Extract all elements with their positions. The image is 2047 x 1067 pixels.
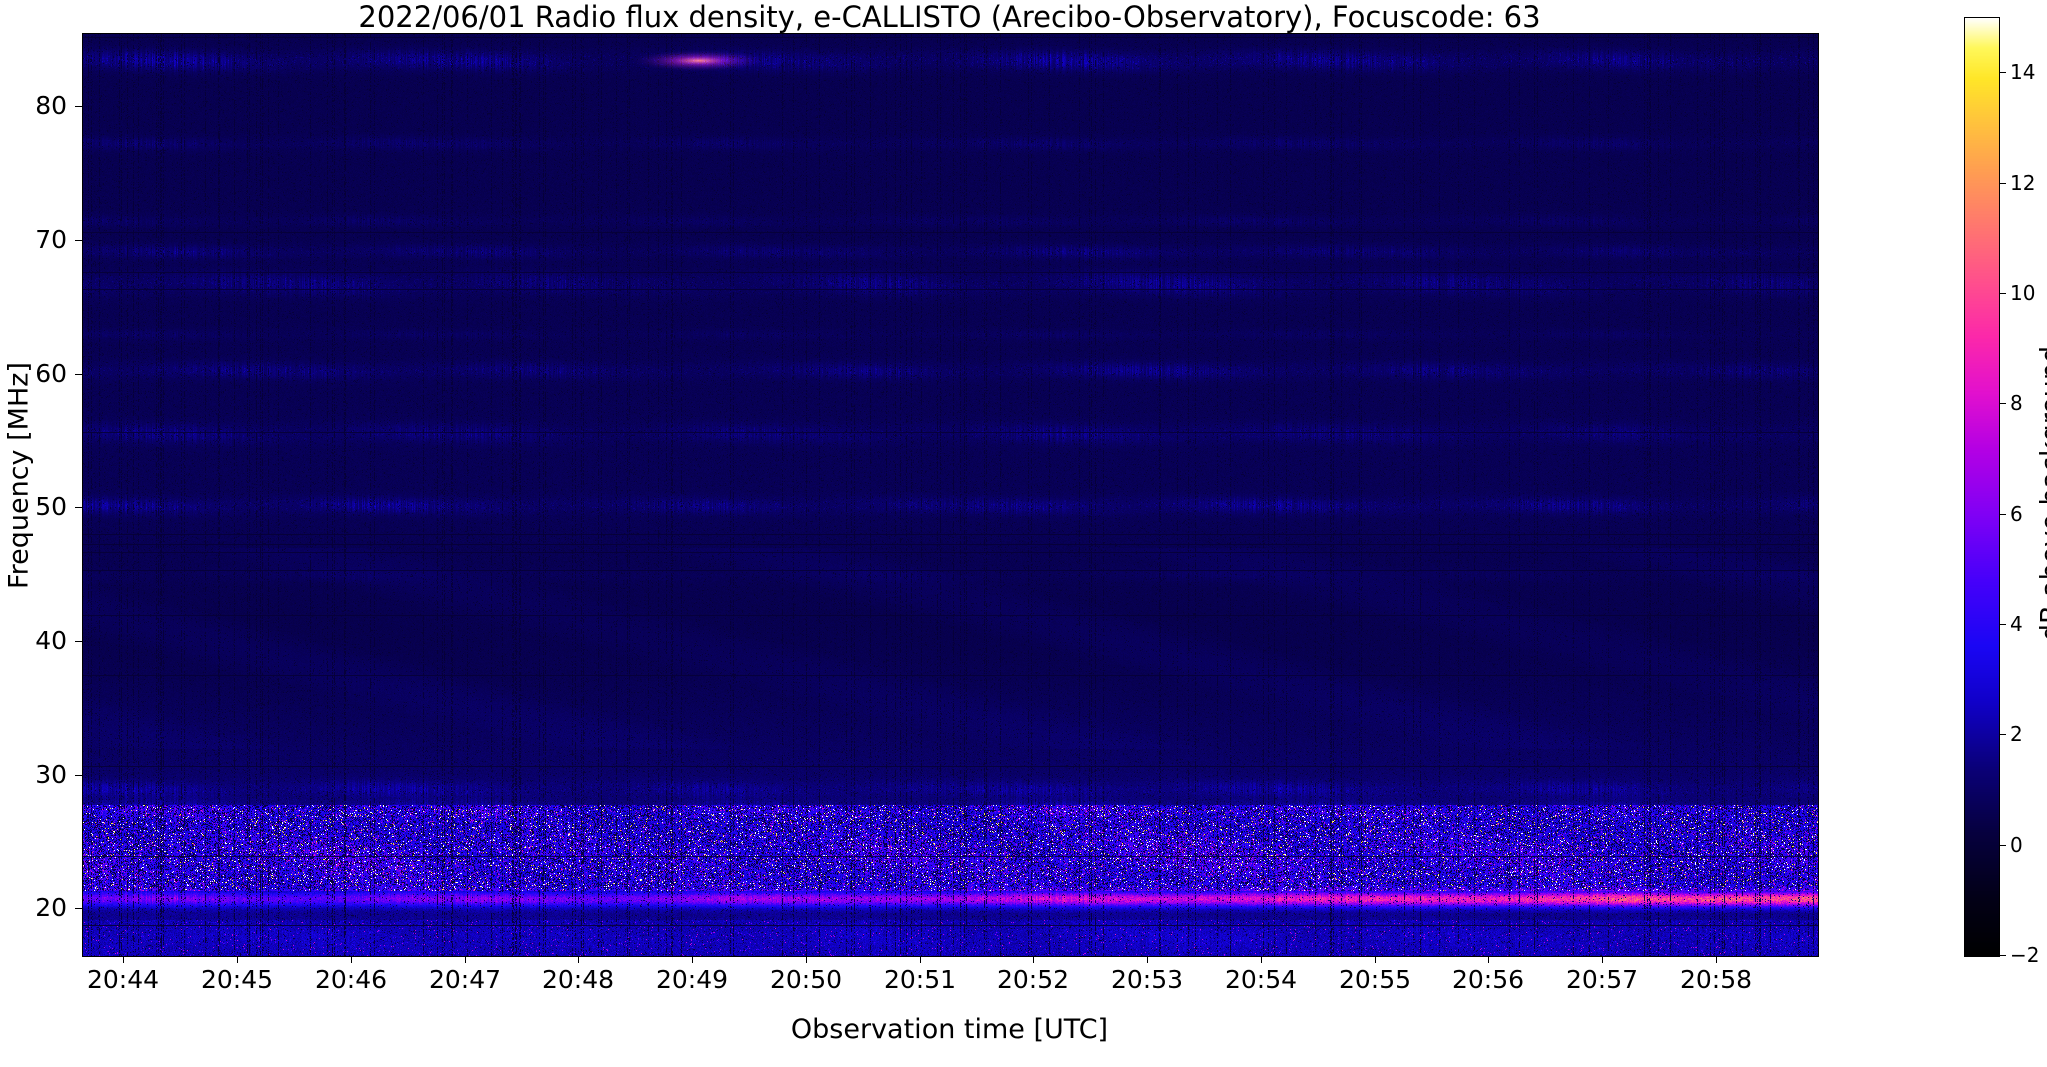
colorbar-tick-label: 14	[2010, 62, 2047, 82]
x-tick-mark	[1488, 956, 1489, 963]
colorbar-tick-label: 0	[2010, 835, 2047, 855]
colorbar-tick-mark	[1999, 624, 2006, 625]
y-tick-mark	[75, 507, 82, 508]
colorbar-tick-mark	[1999, 845, 2006, 846]
x-tick-label: 20:55	[1310, 967, 1440, 993]
x-tick-label: 20:50	[741, 967, 871, 993]
x-tick-mark	[920, 956, 921, 963]
x-tick-label: 20:48	[513, 967, 643, 993]
colorbar-tick-mark	[1999, 293, 2006, 294]
colorbar-tick-label: 12	[2010, 173, 2047, 193]
x-tick-label: 20:51	[855, 967, 985, 993]
x-tick-mark	[1033, 956, 1034, 963]
x-tick-label: 20:47	[400, 967, 530, 993]
x-tick-label: 20:45	[172, 967, 302, 993]
spectrogram-axes[interactable]	[82, 33, 1819, 957]
page-title: 2022/06/01 Radio flux density, e-CALLIST…	[82, 2, 1817, 32]
y-tick-mark	[75, 775, 82, 776]
x-tick-mark	[1375, 956, 1376, 963]
spectrogram-figure: 2022/06/01 Radio flux density, e-CALLIST…	[0, 0, 2047, 1067]
x-axis-label: Observation time [UTC]	[82, 1014, 1817, 1045]
colorbar-tick-mark	[1999, 734, 2006, 735]
x-tick-mark	[1147, 956, 1148, 963]
spectrogram-heatmap[interactable]	[83, 34, 1818, 956]
colorbar-label: dB above background	[2036, 194, 2047, 794]
colorbar-gradient	[1965, 18, 1999, 956]
colorbar[interactable]	[1964, 17, 2000, 957]
x-tick-mark	[806, 956, 807, 963]
x-tick-label: 20:56	[1423, 967, 1553, 993]
x-tick-label: 20:58	[1651, 967, 1781, 993]
colorbar-tick-mark	[1999, 955, 2006, 956]
y-tick-mark	[75, 106, 82, 107]
x-tick-label: 20:49	[627, 967, 757, 993]
x-tick-mark	[237, 956, 238, 963]
y-tick-mark	[75, 641, 82, 642]
x-tick-mark	[692, 956, 693, 963]
x-tick-mark	[578, 956, 579, 963]
y-axis-label: Frequency [MHz]	[4, 15, 35, 937]
x-tick-mark	[1261, 956, 1262, 963]
x-tick-mark	[351, 956, 352, 963]
colorbar-tick-mark	[1999, 514, 2006, 515]
x-tick-label: 20:53	[1082, 967, 1212, 993]
colorbar-tick-mark	[1999, 403, 2006, 404]
colorbar-tick-mark	[1999, 183, 2006, 184]
y-tick-mark	[75, 908, 82, 909]
x-tick-label: 20:46	[286, 967, 416, 993]
y-tick-mark	[75, 374, 82, 375]
x-tick-mark	[123, 956, 124, 963]
x-tick-mark	[465, 956, 466, 963]
x-tick-label: 20:44	[58, 967, 188, 993]
colorbar-tick-label: −2	[2010, 945, 2047, 965]
x-tick-label: 20:52	[968, 967, 1098, 993]
x-tick-mark	[1602, 956, 1603, 963]
colorbar-tick-mark	[1999, 72, 2006, 73]
x-tick-mark	[1716, 956, 1717, 963]
x-tick-label: 20:57	[1537, 967, 1667, 993]
y-tick-mark	[75, 240, 82, 241]
x-tick-label: 20:54	[1196, 967, 1326, 993]
